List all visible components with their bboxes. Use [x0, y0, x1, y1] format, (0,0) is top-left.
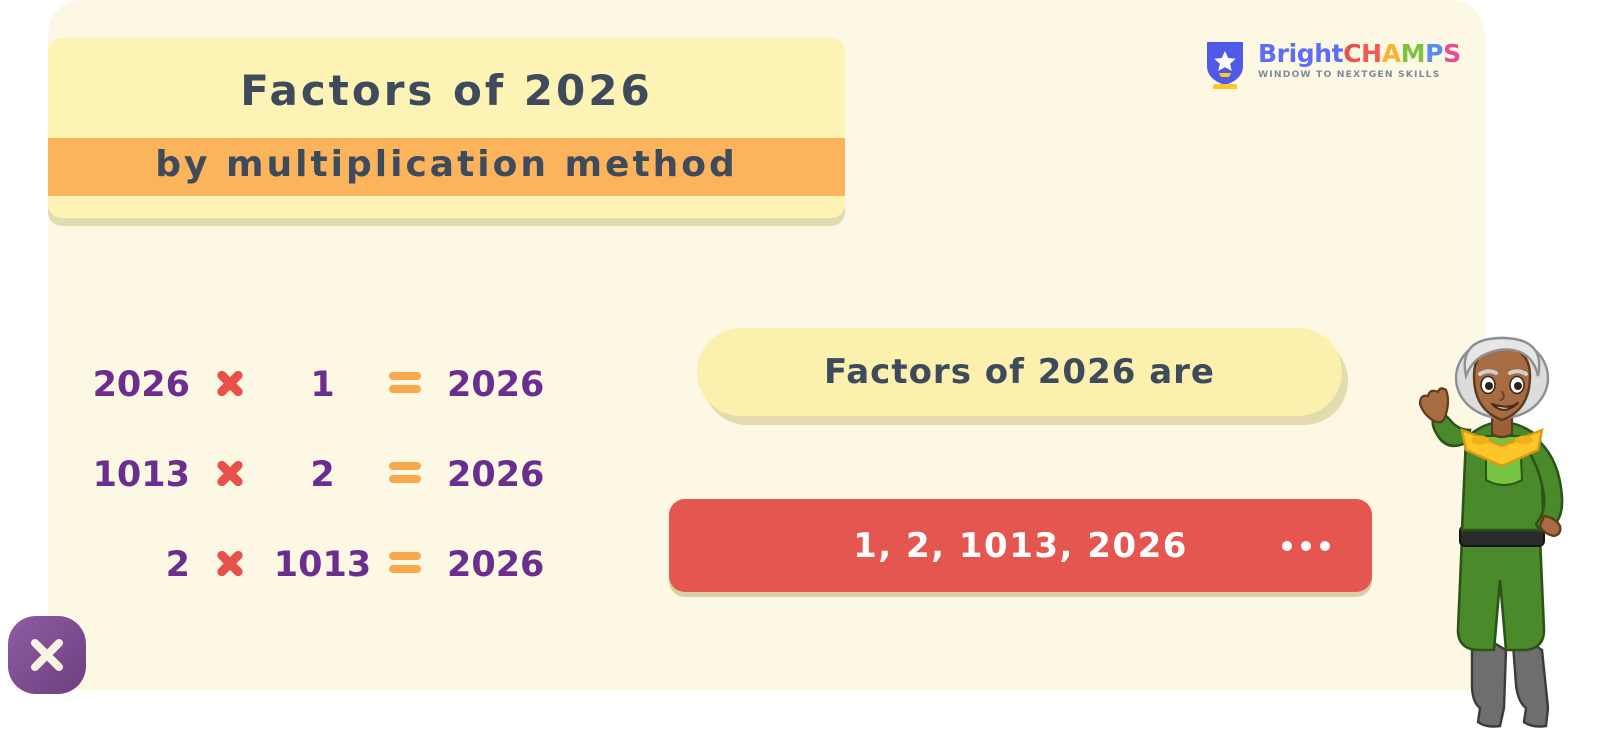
multiplication-sign	[190, 548, 270, 582]
page-title: Factors of 2026	[48, 66, 845, 115]
equation-result: 2026	[435, 455, 577, 495]
equals-icon	[389, 552, 421, 574]
equation-result: 2026	[435, 545, 577, 585]
equals-sign	[375, 462, 435, 488]
times-icon	[215, 548, 245, 578]
multiplication-sign	[190, 368, 270, 402]
teacher-character-illustration	[1400, 330, 1600, 740]
equals-icon	[389, 462, 421, 484]
factors-answer-bar: 1, 2, 1013, 2026	[669, 499, 1372, 592]
logo-champs-letter: S	[1443, 39, 1461, 68]
equation-row: 2 1013 2026	[80, 520, 590, 610]
brightchamps-logo: BrightCHAMPS WINDOW TO NEXTGEN SKILLS	[1203, 38, 1453, 90]
equation-result: 2026	[435, 365, 577, 405]
equation-factor-a: 2	[80, 545, 190, 585]
logo-champs-letter: A	[1382, 39, 1401, 68]
ellipsis-icon	[1282, 541, 1330, 551]
logo-champs-letter: P	[1425, 39, 1443, 68]
equation-factor-b: 2	[270, 455, 375, 495]
logo-bright-text: Bright	[1258, 39, 1343, 68]
equation-factor-b: 1	[270, 365, 375, 405]
factors-answer-text: 1, 2, 1013, 2026	[669, 499, 1372, 592]
times-icon	[215, 368, 245, 398]
logo-tagline: WINDOW TO NEXTGEN SKILLS	[1258, 69, 1461, 80]
equation-factor-b: 1013	[270, 545, 375, 585]
logo-champs-letter: C	[1343, 39, 1361, 68]
equation-factor-a: 2026	[80, 365, 190, 405]
equation-row: 1013 2 2026	[80, 430, 590, 520]
multiplication-equations-list: 2026 1 2026 1013 2 2026 2 1013 2026	[80, 340, 590, 610]
close-button[interactable]	[8, 616, 86, 694]
equation-factor-a: 1013	[80, 455, 190, 495]
equation-row: 2026 1 2026	[80, 340, 590, 430]
shield-logo-icon	[1203, 38, 1247, 90]
factors-label-pill: Factors of 2026 are	[697, 328, 1342, 416]
multiplication-sign	[190, 458, 270, 492]
times-icon	[215, 458, 245, 488]
equals-icon	[389, 372, 421, 394]
logo-champs-letter: H	[1361, 39, 1382, 68]
equals-sign	[375, 372, 435, 398]
factors-label-text: Factors of 2026 are	[824, 352, 1215, 392]
logo-wordmark: BrightCHAMPS	[1258, 40, 1461, 68]
equals-sign	[375, 552, 435, 578]
title-banner: Factors of 2026 by multiplication method	[48, 38, 845, 218]
page-subtitle: by multiplication method	[48, 144, 845, 185]
logo-text-block: BrightCHAMPS WINDOW TO NEXTGEN SKILLS	[1258, 40, 1461, 80]
logo-champs-letter: M	[1401, 39, 1425, 68]
